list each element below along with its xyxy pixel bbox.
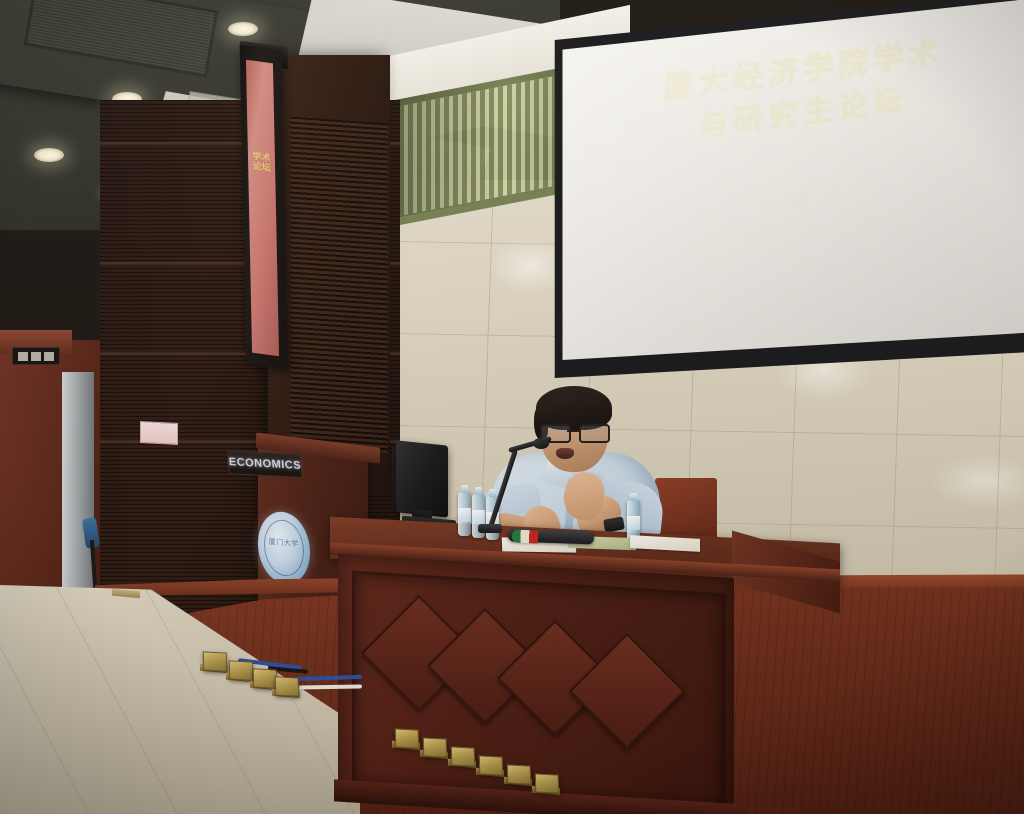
water-bottle[interactable] (458, 492, 471, 536)
main-projection-screen: 厦大经济学院学术 与研究生论坛 主 讲 人 厦门大学经济学院 博士研究生 (545, 0, 1024, 392)
projected-slide: 厦大经济学院学术 与研究生论坛 主 讲 人 厦门大学经济学院 博士研究生 (545, 0, 1024, 392)
brass-floor-light (395, 728, 420, 748)
eyeglass-bridge (567, 430, 579, 432)
speaker-mouth (556, 448, 574, 459)
bottle-label (472, 510, 485, 524)
brass-floor-light (535, 773, 560, 793)
microphone-base (478, 524, 502, 533)
brass-floor-light (275, 676, 300, 696)
door-frame[interactable] (62, 372, 94, 614)
slide-title: 厦大经济学院学术 与研究生论坛 (603, 25, 1003, 162)
brass-floor-light (479, 755, 504, 775)
ceiling-downlight-icon (228, 22, 258, 36)
microphone-flag-band (512, 530, 538, 544)
brass-floor-light (423, 737, 448, 757)
lecture-hall-photo: 厦大经济学院学术 与研究生论坛 主 讲 人 厦门大学经济学院 博士研究生 学术论… (0, 0, 1024, 814)
eyeglass-lens-right (579, 424, 610, 443)
wood-column-ribbing (290, 117, 388, 454)
economics-sign-label: ECONOMICS (228, 456, 301, 472)
bottle-label (627, 516, 640, 530)
brass-floor-light (253, 668, 278, 688)
side-screen-text: 学术论坛 (250, 150, 273, 174)
brass-floor-light (451, 746, 476, 766)
computer-monitor[interactable] (396, 440, 448, 517)
wall-notice-sign (140, 421, 178, 445)
economics-department-sign: ECONOMICS (227, 450, 302, 478)
brass-floor-light (229, 660, 254, 680)
brass-floor-light (507, 764, 532, 784)
microphone-capsule-icon (533, 438, 549, 449)
exit-sign-icon (12, 347, 60, 365)
bottle-label (458, 508, 471, 522)
ceiling-downlight-icon (34, 148, 64, 162)
brass-floor-light (203, 651, 228, 671)
